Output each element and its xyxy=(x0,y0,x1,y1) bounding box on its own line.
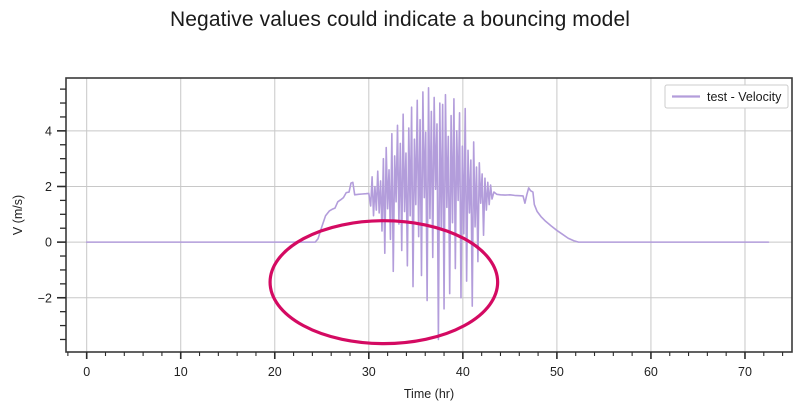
legend-entry-label: test - Velocity xyxy=(707,90,782,104)
x-tick-label: 50 xyxy=(550,365,564,379)
x-axis-ticks: 010203040506070 xyxy=(68,352,783,379)
chart-legend[interactable]: test - Velocity xyxy=(665,85,788,108)
x-tick-label: 10 xyxy=(174,365,188,379)
y-tick-label: −2 xyxy=(38,291,52,305)
x-tick-label: 0 xyxy=(83,365,90,379)
y-axis-label: V (m/s) xyxy=(11,195,25,235)
x-tick-label: 70 xyxy=(738,365,752,379)
x-axis-label: Time (hr) xyxy=(404,387,454,401)
x-tick-label: 30 xyxy=(362,365,376,379)
y-tick-label: 4 xyxy=(45,124,52,138)
x-tick-label: 40 xyxy=(456,365,470,379)
plot-canvas: 010203040506070 420−2 Time (hr) V (m/s) … xyxy=(0,0,800,406)
chart-figure: Negative values could indicate a bouncin… xyxy=(0,0,800,406)
y-tick-label: 0 xyxy=(45,236,52,250)
y-tick-label: 2 xyxy=(45,180,52,194)
x-tick-label: 60 xyxy=(644,365,658,379)
x-tick-label: 20 xyxy=(268,365,282,379)
y-axis-ticks: 420−2 xyxy=(38,89,66,339)
